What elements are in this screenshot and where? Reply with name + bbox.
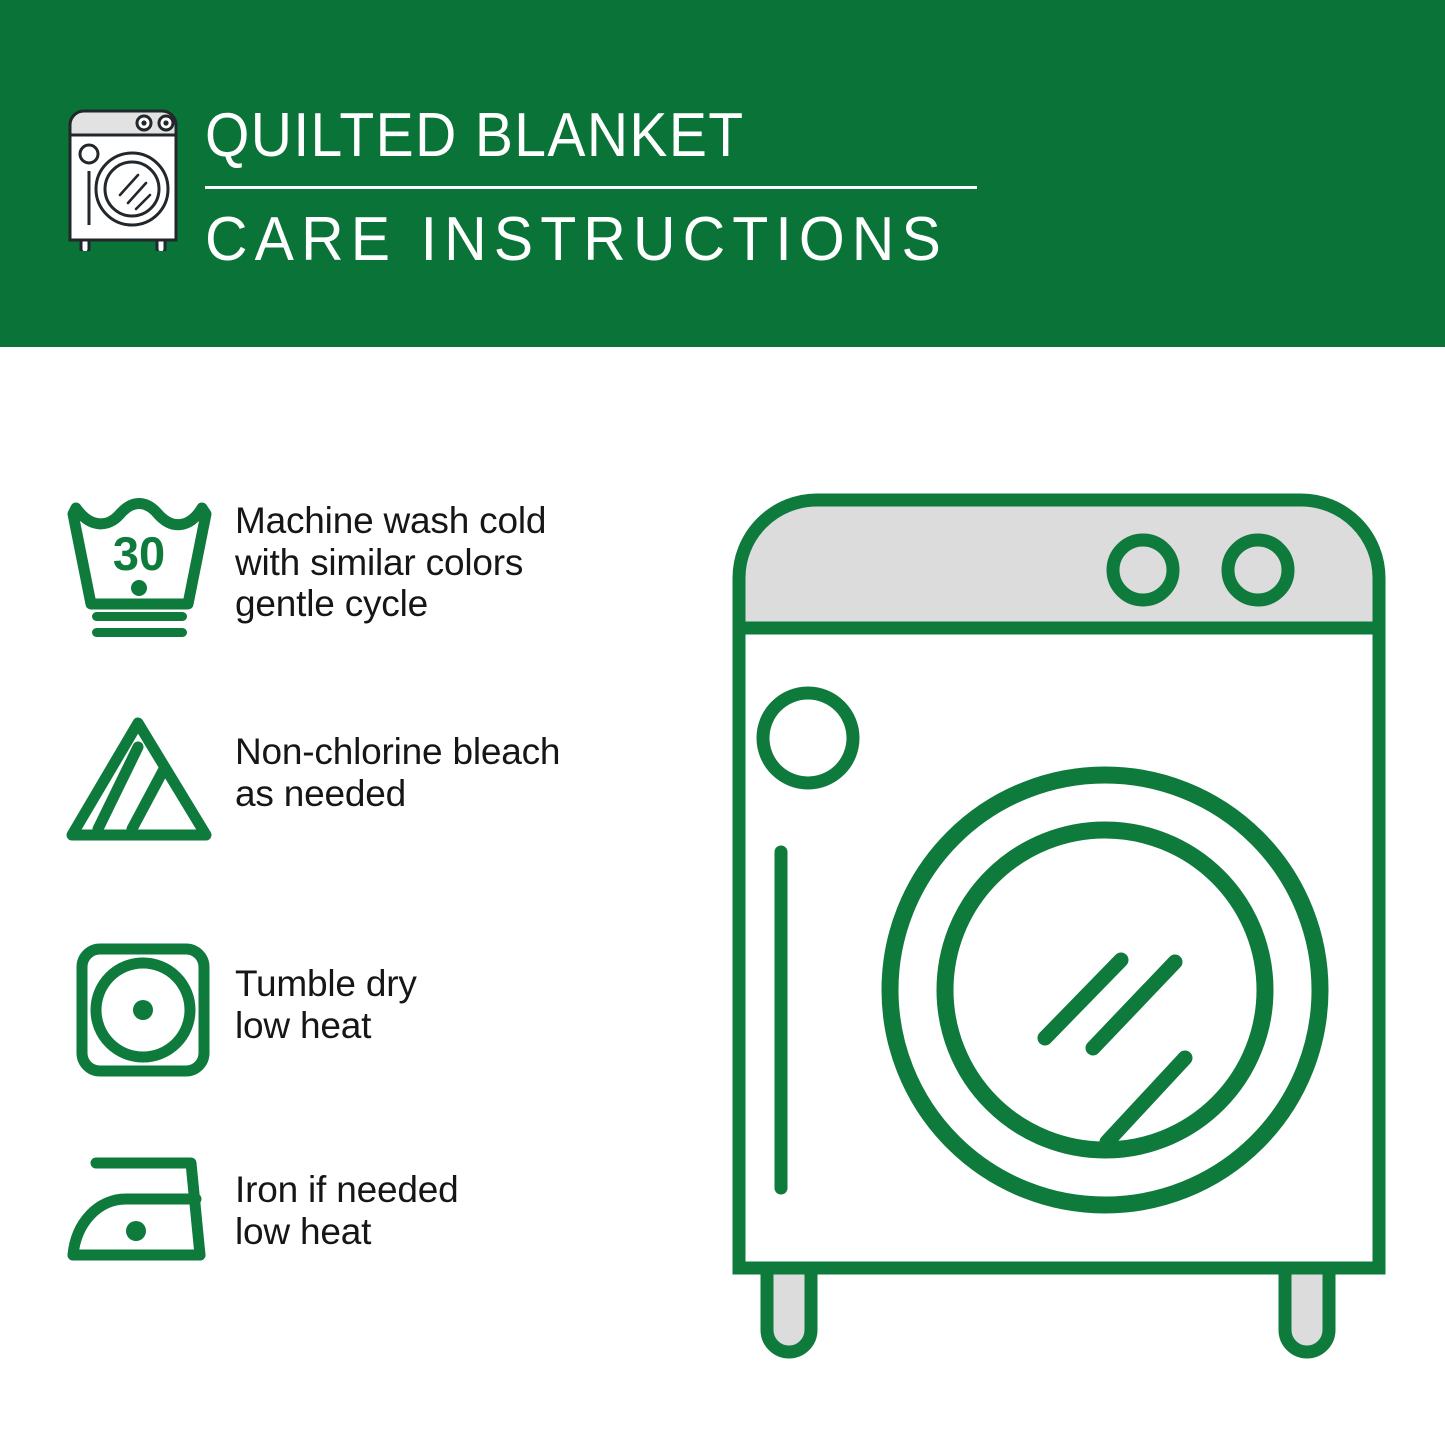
header-band: QUILTED BLANKET CARE INSTRUCTIONS [0, 0, 1445, 347]
care-instruction-list: 30 Machine wash cold with similar colors… [0, 347, 700, 1445]
title-divider [205, 186, 977, 189]
wash-basin-30-gentle-icon: 30 [60, 492, 235, 640]
machine-knob-2 [1228, 540, 1288, 600]
care-row-iron: Iron if needed low heat [60, 1147, 700, 1275]
iron-low-heat-icon [60, 1147, 235, 1275]
care-label-bleach: Non-chlorine bleach as needed [235, 707, 560, 814]
front-load-washing-machine-illustration [715, 470, 1405, 1370]
machine-indicator-circle [763, 693, 853, 783]
washing-machine-icon [62, 103, 184, 251]
page-title: QUILTED BLANKET [205, 100, 918, 172]
care-label-wash: Machine wash cold with similar colors ge… [235, 492, 546, 625]
care-row-tumble-dry: Tumble dry low heat [60, 935, 700, 1083]
header-text-block: QUILTED BLANKET CARE INSTRUCTIONS [205, 100, 980, 275]
machine-drum-inner [945, 830, 1265, 1150]
care-row-wash: 30 Machine wash cold with similar colors… [60, 492, 700, 640]
non-chlorine-bleach-triangle-icon [60, 707, 235, 847]
care-instructions-page: QUILTED BLANKET CARE INSTRUCTIONS 30 [0, 0, 1445, 1445]
care-label-tumble-dry: Tumble dry low heat [235, 935, 417, 1046]
care-label-iron: Iron if needed low heat [235, 1147, 458, 1252]
page-subtitle: CARE INSTRUCTIONS [205, 205, 941, 275]
tumble-dry-low-icon [60, 935, 235, 1083]
svg-text:30: 30 [113, 527, 165, 580]
machine-knob-1 [1113, 540, 1173, 600]
care-row-bleach: Non-chlorine bleach as needed [60, 707, 700, 847]
